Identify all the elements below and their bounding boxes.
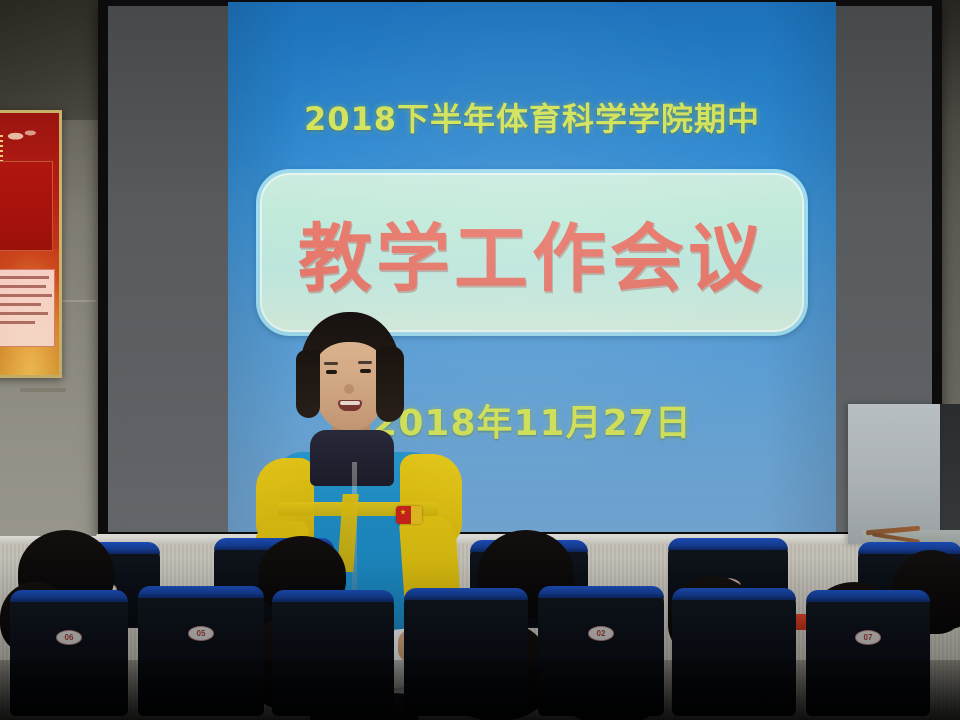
audience-seating: 0504030206050207 — [0, 560, 960, 720]
seat-number-badge: 06 — [56, 630, 82, 645]
slide-title-text: 教学工作会议 — [298, 199, 766, 306]
presenter-hair-right — [376, 346, 404, 422]
seat-trim — [672, 588, 796, 600]
seat-front-row — [404, 588, 528, 716]
seat-front-row: 02 — [538, 586, 664, 716]
seat-front-row: 07 — [806, 590, 930, 716]
seat-trim — [10, 590, 128, 602]
poster-text-block — [0, 269, 55, 347]
photo-scene: 2018下半年体育科学学院期中 教学工作会议 2018年11月27日 — [0, 0, 960, 720]
poster-mount-bracket — [20, 388, 66, 392]
poster-dove-icon — [3, 123, 45, 145]
seat-trim — [538, 586, 664, 598]
presenter-nose — [344, 384, 354, 394]
seat-front-row — [672, 588, 796, 716]
presenter-brow-left — [324, 362, 338, 365]
presenter-eye-right — [360, 369, 371, 373]
slide-heading: 2018下半年体育科学学院期中 — [228, 94, 836, 140]
seat-number-badge: 05 — [188, 626, 214, 641]
poster-image-panel — [0, 161, 53, 251]
presenter-hair-left — [296, 350, 320, 418]
flag-badge-icon — [396, 506, 422, 524]
slide-title-box: 教学工作会议 — [256, 169, 808, 336]
podium-back-shadow — [938, 404, 960, 532]
presenter-brow-right — [358, 361, 372, 364]
seat-number-badge: 02 — [588, 626, 614, 641]
seat-trim — [272, 590, 394, 602]
presenter-mouth — [338, 400, 362, 411]
red-wall-poster — [0, 110, 62, 378]
seat-front-row: 05 — [138, 586, 264, 716]
seat-trim — [806, 590, 930, 602]
seat-front-row — [272, 590, 394, 716]
lectern — [848, 404, 940, 544]
seat-front-row: 06 — [10, 590, 128, 716]
seat-trim — [668, 538, 788, 550]
seat-number-badge: 07 — [855, 630, 881, 645]
presenter-eye-left — [326, 370, 337, 374]
seat-trim — [138, 586, 264, 598]
seat-trim — [404, 588, 528, 600]
